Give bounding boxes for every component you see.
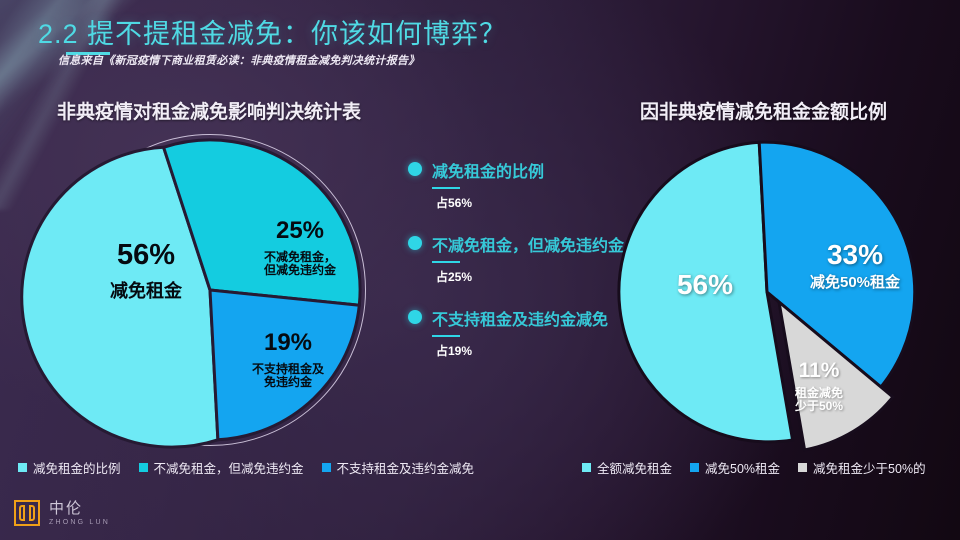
- legend-swatch-icon: [690, 463, 699, 472]
- side-legend-item-2[interactable]: 不减免租金，但减免违约金 占25%: [408, 232, 648, 285]
- header: 2.2 提不提租金减免：你该如何博弈？: [38, 12, 507, 51]
- right-chart-title: 因非典疫情减免租金金额比例: [640, 97, 887, 124]
- left-label-56-name: 减免租金: [66, 282, 226, 301]
- side-legend-item-1-rule: [432, 187, 460, 189]
- right-label-33: 33% 减免50%租金: [785, 240, 925, 291]
- side-legend-item-1[interactable]: 减免租金的比例 占56%: [408, 158, 648, 211]
- bottom-legend-right-item-1-label: 全额减免租金: [597, 458, 672, 477]
- bottom-legend-left-item-2-label: 不减免租金，但减免违约金: [154, 458, 304, 477]
- right-label-11-pct: 11%: [769, 360, 869, 383]
- right-chart-bottom-legend: 全额减免租金 减免50%租金 减免租金少于50%的: [582, 458, 944, 477]
- logo-name-cn: 中伦: [49, 501, 110, 516]
- left-label-25-pct: 25%: [230, 218, 370, 244]
- bottom-legend-right-item-1[interactable]: 全额减免租金: [582, 458, 672, 477]
- side-legend-item-2-rule: [432, 261, 460, 263]
- bottom-legend-right-item-3[interactable]: 减免租金少于50%的: [798, 458, 926, 477]
- left-label-19-name-line1: 不支持租金及: [218, 363, 358, 376]
- left-label-19-name-line2: 免违约金: [218, 376, 358, 389]
- left-label-25-name-line2: 但减免违约金: [230, 264, 370, 277]
- side-legend-item-2-label: 不减免租金，但减免违约金: [432, 232, 648, 256]
- bottom-legend-left-item-3[interactable]: 不支持租金及违约金减免: [322, 458, 475, 477]
- right-label-33-name: 减免50%租金: [785, 275, 925, 291]
- legend-swatch-icon: [582, 463, 591, 472]
- left-pie-chart: 56% 减免租金 25% 不减免租金， 但减免违约金 19% 不支持租金及 免违…: [60, 140, 360, 440]
- left-label-25: 25% 不减免租金， 但减免违约金: [230, 218, 370, 277]
- right-pie-chart: 56% 33% 减免50%租金 11% 租金减免 少于50%: [617, 142, 917, 442]
- side-legend-item-3-rule: [432, 335, 460, 337]
- right-label-11-name-line1: 租金减免: [769, 387, 869, 400]
- bottom-legend-left-item-2[interactable]: 不减免租金，但减免违约金: [139, 458, 304, 477]
- left-label-19: 19% 不支持租金及 免违约金: [218, 330, 358, 389]
- left-label-19-pct: 19%: [218, 330, 358, 356]
- right-label-56: 56%: [635, 270, 775, 300]
- legend-swatch-icon: [139, 463, 148, 472]
- page-title: 2.2 提不提租金减免：你该如何博弈？: [38, 12, 507, 51]
- bullet-dot-icon: [408, 310, 422, 324]
- brand-logo: 中伦 ZHONG LUN: [14, 500, 110, 526]
- logo-text: 中伦 ZHONG LUN: [49, 501, 110, 526]
- legend-swatch-icon: [322, 463, 331, 472]
- left-label-56: 56% 减免租金: [66, 240, 226, 302]
- bottom-legend-right-item-3-label: 减免租金少于50%的: [813, 458, 926, 477]
- bullet-dot-icon: [408, 162, 422, 176]
- slide: 2.2 提不提租金减免：你该如何博弈？ 信息来自《新冠疫情下商业租赁必读：非典疫…: [0, 0, 960, 540]
- zhonglun-logo-icon: [14, 500, 40, 526]
- side-legend-item-3[interactable]: 不支持租金及违约金减免 占19%: [408, 306, 648, 359]
- legend-swatch-icon: [18, 463, 27, 472]
- legend-swatch-icon: [798, 463, 807, 472]
- left-chart-title: 非典疫情对租金减免影响判决统计表: [57, 97, 361, 124]
- side-legend-item-1-label: 减免租金的比例: [432, 158, 648, 182]
- left-chart-side-legend: 减免租金的比例 占56% 不减免租金，但减免违约金 占25% 不支持租金及违约金…: [408, 158, 648, 380]
- bottom-legend-left-item-3-label: 不支持租金及违约金减免: [337, 458, 475, 477]
- right-label-11-name-line2: 少于50%: [769, 400, 869, 413]
- left-label-25-name-line1: 不减免租金，: [230, 251, 370, 264]
- bottom-legend-left-item-1-label: 减免租金的比例: [33, 458, 121, 477]
- left-label-56-pct: 56%: [66, 240, 226, 271]
- right-label-33-pct: 33%: [785, 240, 925, 270]
- side-legend-item-3-label: 不支持租金及违约金减免: [432, 306, 648, 330]
- right-label-11: 11% 租金减免 少于50%: [769, 360, 869, 413]
- logo-name-en: ZHONG LUN: [49, 519, 110, 526]
- right-label-56-pct: 56%: [635, 270, 775, 300]
- source-subtitle: 信息来自《新冠疫情下商业租赁必读：非典疫情租金减免判决统计报告》: [58, 52, 420, 68]
- left-chart-bottom-legend: 减免租金的比例 不减免租金，但减免违约金 不支持租金及违约金减免: [18, 458, 492, 477]
- bottom-legend-right-item-2-label: 减免50%租金: [705, 458, 780, 477]
- bullet-dot-icon: [408, 236, 422, 250]
- bottom-legend-left-item-1[interactable]: 减免租金的比例: [18, 458, 121, 477]
- bottom-legend-right-item-2[interactable]: 减免50%租金: [690, 458, 780, 477]
